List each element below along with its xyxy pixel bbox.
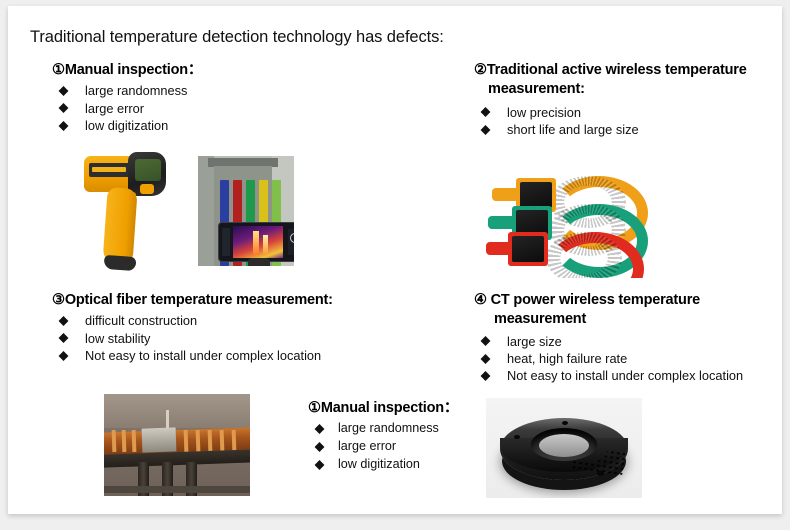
thermal-hotspot [253, 231, 259, 255]
cable-tunnel-illustration [104, 394, 250, 496]
section-number-1-repeat: ① [308, 400, 321, 416]
operator-hand [248, 258, 270, 266]
list-item: large error [52, 100, 202, 117]
section-ct-power-wireless: ④ CT power wireless temperature measurem… [474, 291, 743, 385]
section-number-1: ① [52, 62, 65, 78]
fiber-coil [220, 430, 225, 452]
diamond-bullet-icon [481, 336, 491, 346]
section-number-2: ② [474, 62, 487, 78]
list-item: difficult construction [52, 312, 333, 329]
wireless-temperature-sensor-straps-photo [486, 166, 666, 278]
sensor-face-red [512, 236, 544, 262]
thermometer-grip-base [104, 255, 137, 271]
phone-thermal-screen [233, 226, 283, 258]
section-title-4-line2: measurement [474, 310, 743, 329]
bullet-text: Not easy to install under complex locati… [507, 368, 743, 383]
section-number-4: ④ [474, 292, 487, 308]
slide-canvas: Traditional temperature detection techno… [8, 6, 782, 514]
bullet-text: low stability [85, 331, 150, 346]
phone-right-controls [288, 229, 294, 255]
tunnel-floor-rail [104, 486, 250, 493]
fiber-coil [122, 430, 127, 452]
bullet-text: low digitization [85, 118, 168, 133]
list-item: low digitization [308, 456, 458, 474]
wireless-sensor-straps-illustration [486, 166, 666, 278]
section-heading-traditional-active-wireless: ②Traditional active wireless temperature… [474, 61, 747, 100]
list-item: low digitization [52, 117, 202, 134]
list-item: Not easy to install under complex locati… [474, 367, 743, 384]
section-title-2-line1: Traditional active wireless temperature [487, 62, 747, 78]
bullet-list-ct-power-wireless: large size heat, high failure rate Not e… [474, 333, 743, 385]
infrared-thermometer-illustration [78, 148, 182, 274]
section-manual-inspection: ①Manual inspection： large randomness lar… [52, 61, 202, 134]
section-number-3: ③ [52, 292, 65, 308]
phone-left-toolbar [222, 228, 230, 256]
fiber-coil [232, 430, 237, 452]
fiber-coil [196, 430, 201, 452]
thermometer-lens [140, 184, 154, 194]
section-title-1: Manual inspection： [65, 62, 202, 78]
diamond-bullet-icon [59, 333, 69, 343]
bullet-text: difficult construction [85, 313, 197, 328]
diamond-bullet-icon [315, 442, 325, 452]
ct-power-sensor-ring-photo [486, 398, 642, 498]
bullet-text: large error [338, 439, 396, 453]
diamond-bullet-icon [481, 107, 491, 117]
section-heading-optical-fiber: ③Optical fiber temperature measurement: [52, 291, 333, 310]
diamond-bullet-icon [315, 424, 325, 434]
list-item: large randomness [52, 82, 202, 99]
bullet-list-traditional-active-wireless: low precision short life and large size [474, 104, 747, 139]
cabinet-left-door [198, 156, 214, 266]
section-title-1-repeat: Manual inspection： [321, 400, 458, 416]
bullet-list-manual-inspection-repeat: large randomness large error low digitiz… [308, 420, 458, 474]
bullet-text: short life and large size [507, 122, 639, 137]
section-title-2-line2: measurement: [474, 80, 747, 99]
diamond-bullet-icon [59, 121, 69, 131]
thermal-imaging-phone [218, 222, 294, 262]
list-item: large size [474, 333, 743, 350]
list-item: heat, high failure rate [474, 350, 743, 367]
diamond-bullet-icon [481, 371, 491, 381]
section-title-3: Optical fiber temperature measurement: [65, 292, 333, 308]
page-title: Traditional temperature detection techno… [30, 28, 444, 47]
bullet-text: large size [507, 334, 562, 349]
fiber-coil [112, 430, 117, 452]
diamond-bullet-icon [481, 354, 491, 364]
bullet-list-optical-fiber: difficult construction low stability Not… [52, 312, 333, 364]
ct-sensor-screw [514, 435, 520, 439]
section-heading-ct-power-wireless: ④ CT power wireless temperature measurem… [474, 291, 743, 330]
section-manual-inspection-repeat: ①Manual inspection： large randomness lar… [308, 399, 458, 474]
fiber-coil [184, 430, 189, 452]
infrared-thermometer-gun-photo [78, 148, 182, 274]
sensor-face-orange [520, 182, 552, 208]
section-title-4-line1: CT power wireless temperature [491, 292, 700, 308]
list-item: short life and large size [474, 121, 747, 138]
diamond-bullet-icon [59, 316, 69, 326]
sensor-module-red [508, 232, 548, 266]
bullet-text: Not easy to install under complex locati… [85, 348, 321, 363]
section-heading-manual-inspection: ①Manual inspection： [52, 61, 202, 80]
list-item: low precision [474, 104, 747, 121]
thermometer-label [89, 163, 133, 177]
fiber-coil [208, 430, 213, 452]
thermal-hotspot-secondary [263, 235, 268, 254]
bullet-text: large randomness [338, 421, 439, 435]
fiber-coil [132, 430, 137, 452]
diamond-bullet-icon [481, 125, 491, 135]
optical-fiber-cable-busbar-photo [104, 394, 250, 496]
section-heading-manual-inspection-repeat: ①Manual inspection： [308, 399, 458, 418]
electrical-cabinet-illustration [198, 156, 294, 266]
diamond-bullet-icon [59, 103, 69, 113]
bullet-text: low precision [507, 105, 581, 120]
section-traditional-active-wireless: ②Traditional active wireless temperature… [474, 61, 747, 138]
cabinet-interior [214, 166, 272, 266]
list-item: low stability [52, 330, 333, 347]
ct-sensor-screw [562, 421, 568, 425]
ct-sensor-illustration [486, 398, 642, 498]
diamond-bullet-icon [59, 86, 69, 96]
list-item: large error [308, 438, 458, 456]
ct-sensor-screw [597, 471, 604, 476]
tunnel-ceiling [104, 394, 250, 428]
section-optical-fiber: ③Optical fiber temperature measurement: … [52, 291, 333, 364]
diamond-bullet-icon [59, 351, 69, 361]
thermometer-lcd-screen [135, 159, 161, 181]
sensor-strap-tail-green [488, 216, 514, 229]
bullet-text: large randomness [85, 83, 187, 98]
sensor-strap-tail-orange [492, 188, 518, 201]
list-item: Not easy to install under complex locati… [52, 347, 333, 364]
bullet-text: heat, high failure rate [507, 351, 627, 366]
cable-joint-sleeve [142, 427, 177, 452]
thermal-camera-phone-cabinet-photo [198, 156, 294, 266]
bullet-text: large error [85, 101, 144, 116]
bullet-list-manual-inspection: large randomness large error low digitiz… [52, 82, 202, 134]
diamond-bullet-icon [315, 460, 325, 470]
list-item: large randomness [308, 420, 458, 438]
bullet-text: low digitization [338, 457, 420, 471]
